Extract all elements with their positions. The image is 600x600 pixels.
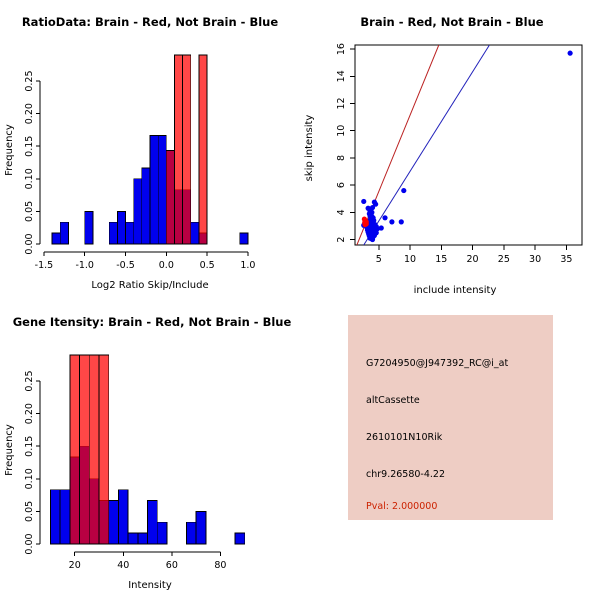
histogram-bar [138,533,148,544]
histogram-bar [89,355,99,544]
info-event-type: altCassette [366,395,420,406]
gene-histogram-xlabel: Intensity [128,580,172,591]
x-axis-tick-label: 15 [435,254,447,265]
histogram-bar [166,151,174,244]
y-axis-tick-label: 0.00 [24,533,35,554]
info-probe-id: G7204950@J947392_RC@i_at [366,358,508,369]
gene-histogram-title: Gene Itensity: Brain - Red, Not Brain - … [13,315,292,329]
y-axis-tick-label: 8 [336,155,347,161]
scatter-plot-svg: Brain - Red, Not Brain - Blue 2468101214… [300,0,600,300]
x-axis-tick-label: 5 [376,254,382,265]
x-axis-tick-label: 80 [214,560,226,571]
histogram-bar [117,211,125,244]
x-axis-tick-label: 0.5 [200,260,215,271]
histogram-bar [191,222,199,244]
gene-histogram-ylabel: Frequency [4,424,15,476]
histogram-bar [240,233,248,244]
scatter-point [568,51,573,56]
histogram-bar [196,511,206,544]
x-axis-tick-label: -0.5 [116,260,135,271]
y-axis-tick-label: 0.20 [24,403,35,424]
panel-gene-info: G7204950@J947392_RC@i_at altCassette 261… [300,300,600,600]
info-pvalue: Pval: 2.000000 [366,501,437,512]
x-axis-tick-label: 35 [560,254,572,265]
scatter-regression-lines [357,45,490,245]
histogram-bar [80,355,90,544]
y-axis-tick-label: 0.10 [24,468,35,489]
histogram-bar [52,233,60,244]
y-axis-tick-label: 12 [336,97,347,109]
histogram-bar [70,355,80,544]
histogram-bar [142,168,150,244]
y-axis-tick-label: 14 [336,70,347,82]
histogram-bar [148,501,158,544]
histogram-bar [186,522,196,544]
histogram-bar [158,135,166,244]
scatter-plot-ylabel: skip intensity [304,115,315,182]
scatter-point [401,188,406,193]
scatter-point [399,219,404,224]
histogram-bar [174,55,182,244]
plot-box-frame [355,45,582,245]
gene-histogram-svg: Gene Itensity: Brain - Red, Not Brain - … [0,300,300,600]
scatter-point [389,219,394,224]
scatter-plot-title: Brain - Red, Not Brain - Blue [360,15,543,29]
y-axis-tick-label: 0.10 [24,168,35,189]
scatter-plot-xlabel: include intensity [414,285,497,296]
x-axis-tick-label: 0.0 [159,260,174,271]
histogram-bar [50,490,60,544]
histogram-bar [150,135,158,244]
y-axis-tick-label: 0.15 [24,436,35,457]
panel-scatter-plot: Brain - Red, Not Brain - Blue 2468101214… [300,0,600,300]
x-axis-tick-label: 10 [404,254,416,265]
x-axis-tick-label: -1.0 [75,260,94,271]
ratio-histogram-title: RatioData: Brain - Red, Not Brain - Blue [22,15,279,29]
scatter-point [382,215,387,220]
histogram-bar [199,55,207,244]
ratio-histogram-bars [52,55,248,244]
histogram-bar [118,490,128,544]
histogram-bar [128,533,138,544]
histogram-bar [99,355,109,544]
histogram-bar [183,55,191,244]
panel-gene-histogram: Gene Itensity: Brain - Red, Not Brain - … [0,300,300,600]
histogram-bar [157,522,167,544]
y-axis-tick-label: 6 [336,182,347,188]
scatter-point [362,222,367,227]
info-gene-symbol: 2610101N10Rik [366,432,442,443]
gene-info-box: G7204950@J947392_RC@i_at altCassette 261… [348,315,553,520]
ratio-histogram-xlabel: Log2 Ratio Skip/Include [91,280,208,291]
x-axis-tick-label: 1.0 [240,260,255,271]
y-axis-tick-label: 0.05 [24,201,35,222]
histogram-bar [109,501,119,544]
y-axis-tick-label: 2 [336,237,347,243]
histogram-bar [85,211,93,244]
histogram-bar [235,533,245,544]
histogram-bar [126,222,134,244]
scatter-point [361,199,366,204]
x-axis-tick-label: 20 [69,560,81,571]
histogram-bar [60,490,70,544]
histogram-bar [60,222,68,244]
r-plot-canvas: RatioData: Brain - Red, Not Brain - Blue… [0,0,600,600]
info-locus: chr9.26580-4.22 [366,469,445,480]
ratio-histogram-ylabel: Frequency [4,124,15,176]
y-axis-tick-label: 0.15 [24,136,35,157]
y-axis-tick-label: 4 [336,209,347,215]
x-axis-tick-label: 60 [166,560,178,571]
x-axis-tick-label: 25 [498,254,510,265]
y-axis-tick-label: 0.20 [24,103,35,124]
x-axis-tick-label: 30 [529,254,541,265]
histogram-bar [109,222,117,244]
x-axis-tick-label: 40 [117,560,129,571]
histogram-bar [134,179,142,244]
scatter-point [379,225,384,230]
x-axis-tick-label: 20 [467,254,479,265]
scatter-plot-frame [355,45,582,245]
y-axis-tick-label: 10 [336,125,347,137]
y-axis-tick-label: 0.25 [24,370,35,391]
panel-ratio-histogram: RatioData: Brain - Red, Not Brain - Blue… [0,0,300,300]
y-axis-tick-label: 0.00 [24,233,35,254]
y-axis-tick-label: 0.05 [24,501,35,522]
scatter-data-points [361,51,573,243]
scatter-point [370,237,375,242]
x-axis-tick-label: -1.5 [35,260,54,271]
ratio-histogram-svg: RatioData: Brain - Red, Not Brain - Blue… [0,0,300,300]
y-axis-tick-label: 0.25 [24,70,35,91]
y-axis-tick-label: 16 [336,43,347,55]
gene-histogram-bars [50,355,244,544]
